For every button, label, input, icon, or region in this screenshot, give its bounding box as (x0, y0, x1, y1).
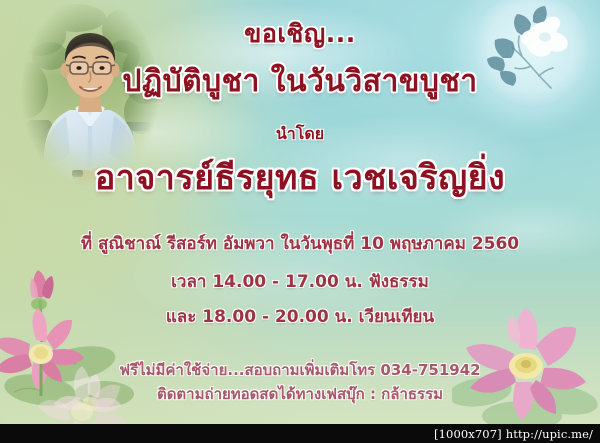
speaker-name: อาจารย์ธีรยุทธ เวชเจริญยิ่ง (0, 150, 600, 204)
led-by-label: นำโดย (0, 122, 600, 147)
watermark-dimensions: [1000x707] (434, 427, 502, 441)
poster-canvas: ขอเชิญ... ปฏิบัติบูชา ในวันวิสาขบูชา นำโ… (0, 0, 600, 443)
free-notice-line: ฟรีไม่มีค่าใช้จ่าย...สอบถามเพิ่มเติมโทร … (0, 358, 600, 382)
watermark-bar: [1000x707] http://upic.me/ (0, 424, 600, 443)
poster-text-layer: ขอเชิญ... ปฏิบัติบูชา ในวันวิสาขบูชา นำโ… (0, 0, 600, 443)
venue-date-line: ที่ สูณิชาณ์ รีสอร์ท อัมพวา ในวันพุธที่ … (0, 230, 600, 257)
live-stream-line: ติดตามถ่ายทอดสดได้ทางเฟสบุ๊ก : กล้าธรรม (0, 382, 600, 406)
invite-line: ขอเชิญ... (0, 14, 600, 54)
time-session-2: และ 18.00 - 20.00 น. เวียนเทียน (0, 303, 600, 330)
headline-line: ปฏิบัติบูชา ในวันวิสาขบูชา (0, 58, 600, 105)
time-session-1: เวลา 14.00 - 17.00 น. ฟังธรรม (0, 268, 600, 295)
watermark-url[interactable]: http://upic.me/ (506, 427, 593, 441)
